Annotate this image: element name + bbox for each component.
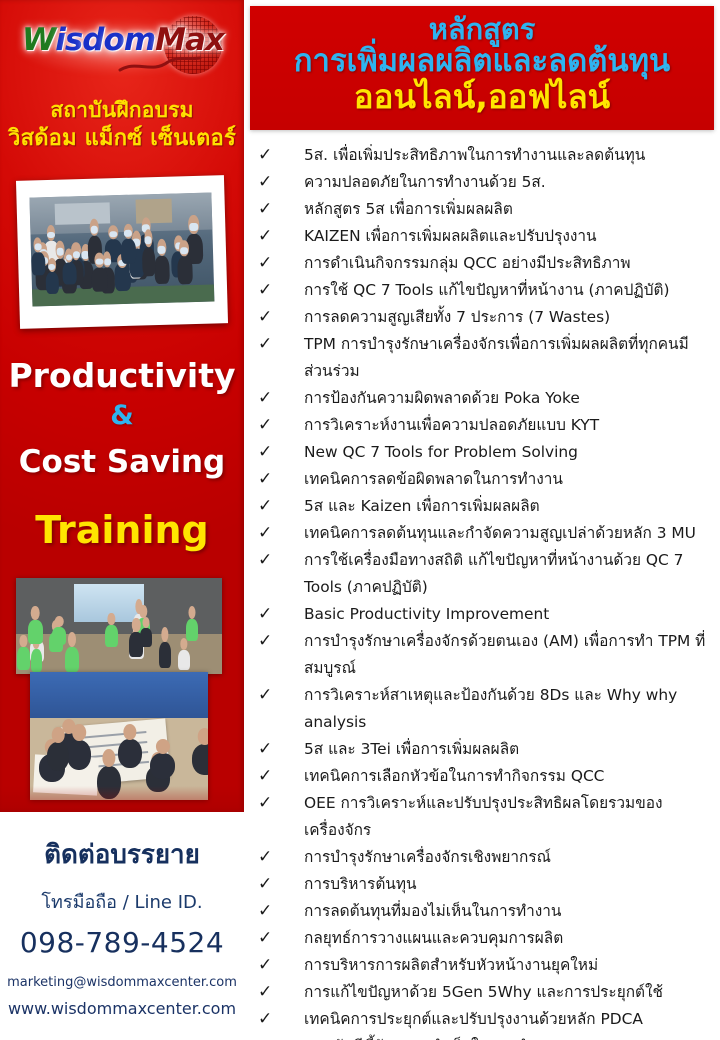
course-list-item: ✓การใช้เครื่องมือทางสถิติ แก้ไขปัญหาที่ห… [252, 547, 712, 601]
course-list-item-label: 5ส. เพื่อเพิ่มประสิทธิภาพในการทำงานและลด… [304, 142, 712, 169]
check-icon: ✓ [252, 277, 304, 304]
contact-heading: ติดต่อบรรยาย [0, 834, 244, 875]
course-list-item: ✓KPI ดัชนีชี้วัดความสำเร็จในการทำงาน [252, 1033, 712, 1040]
group-photo [16, 175, 228, 329]
check-icon: ✓ [252, 898, 304, 925]
course-list-item-label: KAIZEN เพื่อการเพิ่มผลผลิตและปรับปรุงงาน [304, 223, 712, 250]
title-cost-saving: Cost Saving [0, 444, 244, 480]
header-line-1: หลักสูตร [250, 6, 714, 45]
course-list-item: ✓การวิเคราะห์งานเพื่อความปลอดภัยแบบ KYT [252, 412, 712, 439]
course-list-item-label: TPM การบำรุงรักษาเครื่องจักรเพื่อการเพิ่… [304, 331, 712, 385]
check-icon: ✓ [252, 331, 304, 358]
check-icon: ✓ [252, 142, 304, 169]
course-list-item: ✓เทคนิคการประยุกต์และปรับปรุงงานด้วยหลัก… [252, 1006, 712, 1033]
course-list-item-label: 5ส และ 3Tei เพื่อการเพิ่มผลผลิต [304, 736, 712, 763]
check-icon: ✓ [252, 1033, 304, 1040]
check-icon: ✓ [252, 223, 304, 250]
course-list-item-label: 5ส และ Kaizen เพื่อการเพิ่มผลผลิต [304, 493, 712, 520]
contact-email[interactable]: marketing@wisdommaxcenter.com [0, 975, 244, 990]
course-list-item-label: การใช้เครื่องมือทางสถิติ แก้ไขปัญหาที่หน… [304, 547, 712, 601]
course-list-item: ✓การใช้ QC 7 Tools แก้ไขปัญหาที่หน้างาน … [252, 277, 712, 304]
institute-name-line2: วิสด้อม แม็กซ์ เซ็นเตอร์ [0, 120, 244, 155]
course-list-item: ✓5ส และ Kaizen เพื่อการเพิ่มผลผลิต [252, 493, 712, 520]
course-list-item: ✓OEE การวิเคราะห์และปรับปรุงประสิทธิผลโด… [252, 790, 712, 844]
check-icon: ✓ [252, 979, 304, 1006]
course-list-item: ✓การบริหารการผลิตสำหรับหัวหน้างานยุคใหม่ [252, 952, 712, 979]
course-list-item: ✓การบำรุงรักษาเครื่องจักรด้วยตนเอง (AM) … [252, 628, 712, 682]
course-list-item: ✓KAIZEN เพื่อการเพิ่มผลผลิตและปรับปรุงงา… [252, 223, 712, 250]
check-icon: ✓ [252, 493, 304, 520]
course-list-item: ✓การแก้ไขปัญหาด้วย 5Gen 5Why และการประยุ… [252, 979, 712, 1006]
check-icon: ✓ [252, 763, 304, 790]
check-icon: ✓ [252, 439, 304, 466]
contact-website[interactable]: www.wisdommaxcenter.com [0, 999, 244, 1018]
course-list-item-label: การวิเคราะห์สาเหตุและป้องกันด้วย 8Ds และ… [304, 682, 712, 736]
course-list-item-label: Basic Productivity Improvement [304, 601, 712, 628]
course-list-item-label: การแก้ไขปัญหาด้วย 5Gen 5Why และการประยุก… [304, 979, 712, 1006]
check-icon: ✓ [252, 628, 304, 655]
title-training: Training [0, 508, 244, 552]
title-productivity: Productivity [0, 356, 244, 395]
course-list-item: ✓เทคนิคการลดข้อผิดพลาดในการทำงาน [252, 466, 712, 493]
course-list-item: ✓เทคนิคการเลือกหัวข้อในการทำกิจกรรม QCC [252, 763, 712, 790]
check-icon: ✓ [252, 601, 304, 628]
contact-block: ติดต่อบรรยาย โทรมือถือ / Line ID. 098-78… [0, 812, 244, 1040]
check-icon: ✓ [252, 790, 304, 817]
course-list-item-label: การบำรุงรักษาเครื่องจักรเชิงพยากรณ์ [304, 844, 712, 871]
header-banner: หลักสูตร การเพิ่มผลผลิตและลดต้นทุน ออนไล… [250, 6, 714, 130]
check-icon: ✓ [252, 736, 304, 763]
check-icon: ✓ [252, 196, 304, 223]
course-list-item: ✓Basic Productivity Improvement [252, 601, 712, 628]
wisdommax-logo: WisdomMax [12, 14, 230, 80]
course-list-item-label: เทคนิคการประยุกต์และปรับปรุงงานด้วยหลัก … [304, 1006, 712, 1033]
contact-channel-label: โทรมือถือ / Line ID. [0, 887, 244, 916]
check-icon: ✓ [252, 466, 304, 493]
left-branding-panel: WisdomMax สถาบันฝึกอบรม วิสด้อม แม็กซ์ เ… [0, 0, 244, 812]
check-icon: ✓ [252, 925, 304, 952]
contact-phone[interactable]: 098-789-4524 [0, 926, 244, 959]
course-list-item-label: กลยุทธ์การวางแผนและควบคุมการผลิต [304, 925, 712, 952]
logo-wordmark: WisdomMax [22, 22, 224, 58]
course-list-item-label: การใช้ QC 7 Tools แก้ไขปัญหาที่หน้างาน (… [304, 277, 712, 304]
workshop-photo [30, 672, 208, 800]
course-list-item: ✓การวิเคราะห์สาเหตุและป้องกันด้วย 8Ds แล… [252, 682, 712, 736]
course-list-item-label: หลักสูตร 5ส เพื่อการเพิ่มผลผลิต [304, 196, 712, 223]
check-icon: ✓ [252, 844, 304, 871]
check-icon: ✓ [252, 952, 304, 979]
course-list-item-label: New QC 7 Tools for Problem Solving [304, 439, 712, 466]
course-list-item-label: OEE การวิเคราะห์และปรับปรุงประสิทธิผลโดย… [304, 790, 712, 844]
course-list-item: ✓5ส และ 3Tei เพื่อการเพิ่มผลผลิต [252, 736, 712, 763]
course-list-item: ✓การลดความสูญเสียทั้ง 7 ประการ (7 Wastes… [252, 304, 712, 331]
seminar-photo [16, 578, 222, 674]
course-list: ✓5ส. เพื่อเพิ่มประสิทธิภาพในการทำงานและล… [252, 142, 712, 1040]
check-icon: ✓ [252, 682, 304, 709]
check-icon: ✓ [252, 871, 304, 898]
training-course-poster: WisdomMax สถาบันฝึกอบรม วิสด้อม แม็กซ์ เ… [0, 0, 720, 1040]
check-icon: ✓ [252, 547, 304, 574]
course-list-item: ✓TPM การบำรุงรักษาเครื่องจักรเพื่อการเพิ… [252, 331, 712, 385]
course-list-item-label: การบริหารต้นทุน [304, 871, 712, 898]
course-list-item: ✓ความปลอดภัยในการทำงานด้วย 5ส. [252, 169, 712, 196]
course-list-item: ✓การลดต้นทุนที่มองไม่เห็นในการทำงาน [252, 898, 712, 925]
header-line-3: ออนไลน์,ออฟไลน์ [250, 79, 714, 115]
course-list-item-label: KPI ดัชนีชี้วัดความสำเร็จในการทำงาน [304, 1033, 712, 1040]
course-list-item-label: การดำเนินกิจกรรมกลุ่ม QCC อย่างมีประสิทธ… [304, 250, 712, 277]
course-list-item-label: การลดความสูญเสียทั้ง 7 ประการ (7 Wastes) [304, 304, 712, 331]
course-list-item-label: การบริหารการผลิตสำหรับหัวหน้างานยุคใหม่ [304, 952, 712, 979]
check-icon: ✓ [252, 385, 304, 412]
check-icon: ✓ [252, 520, 304, 547]
course-list-item: ✓การป้องกันความผิดพลาดด้วย Poka Yoke [252, 385, 712, 412]
logo-swoosh-icon [118, 56, 202, 74]
title-ampersand: & [0, 400, 244, 431]
course-list-item-label: เทคนิคการลดต้นทุนและกำจัดความสูญเปล่าด้ว… [304, 520, 712, 547]
course-list-item: ✓เทคนิคการลดต้นทุนและกำจัดความสูญเปล่าด้… [252, 520, 712, 547]
course-list-item-label: การลดต้นทุนที่มองไม่เห็นในการทำงาน [304, 898, 712, 925]
course-list-item: ✓New QC 7 Tools for Problem Solving [252, 439, 712, 466]
check-icon: ✓ [252, 169, 304, 196]
course-list-item-label: การบำรุงรักษาเครื่องจักรด้วยตนเอง (AM) เ… [304, 628, 712, 682]
course-list-item: ✓การบริหารต้นทุน [252, 871, 712, 898]
check-icon: ✓ [252, 250, 304, 277]
header-line-2: การเพิ่มผลผลิตและลดต้นทุน [250, 45, 714, 78]
check-icon: ✓ [252, 304, 304, 331]
course-list-item-label: การวิเคราะห์งานเพื่อความปลอดภัยแบบ KYT [304, 412, 712, 439]
check-icon: ✓ [252, 412, 304, 439]
course-list-item-label: ความปลอดภัยในการทำงานด้วย 5ส. [304, 169, 712, 196]
check-icon: ✓ [252, 1006, 304, 1033]
course-list-item: ✓5ส. เพื่อเพิ่มประสิทธิภาพในการทำงานและล… [252, 142, 712, 169]
course-list-item: ✓กลยุทธ์การวางแผนและควบคุมการผลิต [252, 925, 712, 952]
course-list-item: ✓การบำรุงรักษาเครื่องจักรเชิงพยากรณ์ [252, 844, 712, 871]
course-list-item: ✓หลักสูตร 5ส เพื่อการเพิ่มผลผลิต [252, 196, 712, 223]
course-list-item-label: เทคนิคการลดข้อผิดพลาดในการทำงาน [304, 466, 712, 493]
course-list-item-label: การป้องกันความผิดพลาดด้วย Poka Yoke [304, 385, 712, 412]
course-list-item-label: เทคนิคการเลือกหัวข้อในการทำกิจกรรม QCC [304, 763, 712, 790]
course-list-item: ✓การดำเนินกิจกรรมกลุ่ม QCC อย่างมีประสิท… [252, 250, 712, 277]
